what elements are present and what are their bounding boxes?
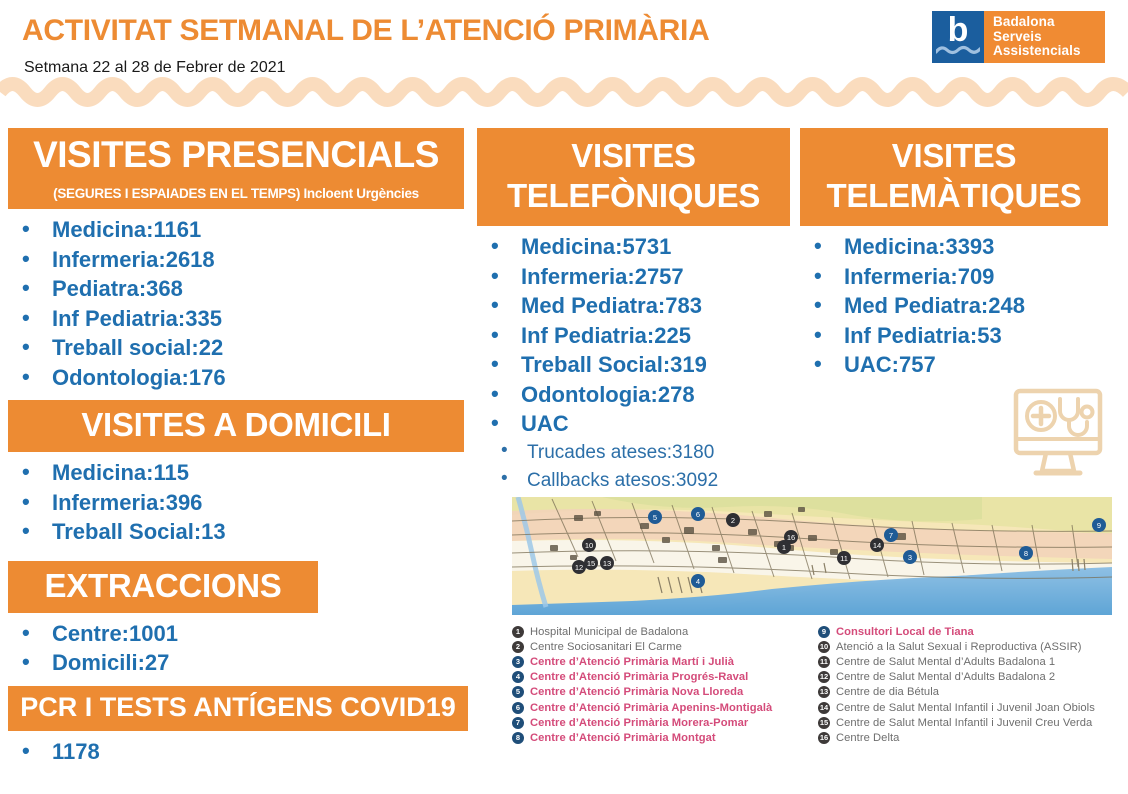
legend-label: Hospital Municipal de Badalona (530, 626, 688, 638)
extraccions-title: EXTRACCIONS (45, 567, 282, 604)
legend-label: Centre de dia Bétula (836, 686, 939, 698)
legend-row: 12Centre de Salut Mental d’Adults Badalo… (818, 670, 1128, 685)
list-item: Treball social:22 (8, 333, 464, 363)
legend-label: Centre d’Atenció Primària Progrés-Raval (530, 671, 748, 683)
legend-label: Consultori Local de Tiana (836, 626, 974, 638)
legend-right-column: 9Consultori Local de Tiana10Atenció a la… (818, 624, 1128, 746)
map-marker-number: 15 (587, 559, 595, 568)
list-item: Infermeria:709 (800, 262, 1108, 292)
map-marker-number: 13 (603, 559, 611, 568)
logo-line-2: Serveis (993, 30, 1105, 44)
list-item: Inf Pediatria:225 (477, 321, 790, 351)
presencials-title: VISITES PRESENCIALS (33, 134, 439, 175)
legend-label: Centre de Salut Mental d’Adults Badalona… (836, 656, 1055, 668)
list-item: Inf Pediatria:335 (8, 304, 464, 334)
list-item: Odontologia:278 (477, 380, 790, 410)
map-marker-number: 7 (889, 531, 893, 540)
legend-row: 8Centre d’Atenció Primària Montgat (512, 730, 842, 745)
list-item: Centre:1001 (8, 619, 464, 649)
legend-row: 16Centre Delta (818, 730, 1128, 745)
logo-letter: b (932, 13, 984, 47)
telefoniques-list: Medicina:5731 Infermeria:2757 Med Pediat… (477, 232, 790, 439)
list-item: Inf Pediatria:53 (800, 321, 1108, 351)
map-marker[interactable]: 2 (726, 513, 740, 527)
legend-number-badge: 1 (512, 626, 524, 638)
legend-number-badge: 5 (512, 686, 524, 698)
legend-left-column: 1Hospital Municipal de Badalona2Centre S… (512, 624, 842, 746)
legend-number-badge: 15 (818, 717, 830, 729)
telematiques-title-line2: TELEMÀTIQUES (827, 177, 1082, 214)
legend-row: 15Centre de Salut Mental Infantil i Juve… (818, 715, 1128, 730)
list-item: UAC:757 (800, 350, 1108, 380)
list-item: Infermeria:2757 (477, 262, 790, 292)
legend-label: Centre d’Atenció Primària Nova Lloreda (530, 686, 743, 698)
list-item: Trucades ateses:3180 (477, 439, 790, 467)
list-item: UAC (477, 409, 790, 439)
telematiques-title-line1: VISITES (892, 137, 1016, 174)
map-marker-number: 1 (782, 543, 786, 552)
map-marker-number: 4 (696, 577, 700, 586)
telematiques-list: Medicina:3393 Infermeria:709 Med Pediatr… (800, 232, 1108, 380)
legend-number-badge: 2 (512, 641, 524, 653)
section-header-pcr: PCR I TESTS ANTÍGENS COVID19 (8, 686, 468, 731)
legend-number-badge: 16 (818, 732, 830, 744)
list-item: Odontologia:176 (8, 363, 464, 393)
legend-label: Atenció a la Salut Sexual i Reproductiva… (836, 641, 1082, 653)
logo-mark: b (932, 11, 984, 63)
list-item: Medicina:3393 (800, 232, 1108, 262)
list-item: Callbacks atesos:3092 (477, 467, 790, 495)
map-marker-number: 8 (1024, 549, 1028, 558)
legend-row: 4Centre d’Atenció Primària Progrés-Raval (512, 670, 842, 685)
right-column: VISITES TELEMÀTIQUES Medicina:3393 Infer… (800, 128, 1108, 380)
legend-row: 3Centre d’Atenció Primària Martí i Julià (512, 654, 842, 669)
legend-label: Centre d’Atenció Primària Martí i Julià (530, 656, 734, 668)
legend-label: Centre de Salut Mental d’Adults Badalona… (836, 671, 1055, 683)
logo-wordmark: Badalona Serveis Assistencials (984, 11, 1105, 63)
map-marker[interactable]: 8 (1019, 546, 1033, 560)
map-marker[interactable]: 1 (777, 540, 791, 554)
legend-number-badge: 12 (818, 671, 830, 683)
legend-row: 13Centre de dia Bétula (818, 685, 1128, 700)
legend-label: Centre d’Atenció Primària Morera-Pomar (530, 717, 748, 729)
wave-divider (0, 72, 1128, 108)
presencials-list: Medicina:1161 Infermeria:2618 Pediatra:3… (8, 215, 464, 392)
pcr-title: PCR I TESTS ANTÍGENS COVID19 (20, 692, 456, 722)
map-marker-number: 10 (585, 541, 593, 550)
list-item: Medicina:1161 (8, 215, 464, 245)
map-marker-number: 3 (908, 553, 912, 562)
legend-number-badge: 7 (512, 717, 524, 729)
section-header-extraccions: EXTRACCIONS (8, 561, 318, 613)
list-item: Med Pediatra:248 (800, 291, 1108, 321)
list-item: Infermeria:396 (8, 488, 464, 518)
legend-row: 2Centre Sociosanitari El Carme (512, 639, 842, 654)
extraccions-list: Centre:1001 Domicili:27 (8, 619, 464, 678)
map-marker-number: 14 (873, 541, 881, 550)
section-header-telematiques: VISITES TELEMÀTIQUES (800, 128, 1108, 226)
map-marker[interactable]: 14 (870, 538, 884, 552)
page-title: ACTIVITAT SETMANAL DE L’ATENCIÓ PRIMÀRIA (22, 14, 709, 48)
list-item: Pediatra:368 (8, 274, 464, 304)
brand-logo: b Badalona Serveis Assistencials (932, 11, 1105, 63)
section-header-domicili: VISITES A DOMICILI (8, 400, 464, 452)
coverage-map[interactable]: 56216110121513411147389 (512, 497, 1112, 615)
map-marker[interactable]: 10 (582, 538, 596, 552)
list-item: Medicina:5731 (477, 232, 790, 262)
legend-row: 6Centre d’Atenció Primària Apenins-Monti… (512, 700, 842, 715)
legend-number-badge: 4 (512, 671, 524, 683)
legend-row: 11Centre de Salut Mental d’Adults Badalo… (818, 654, 1128, 669)
logo-line-3: Assistencials (993, 44, 1105, 58)
map-marker[interactable]: 3 (903, 550, 917, 564)
logo-wave-icon (936, 44, 980, 56)
legend-number-badge: 14 (818, 702, 830, 714)
presencials-note: (SEGURES I ESPAIADES EN EL TEMPS) Incloe… (14, 186, 458, 202)
map-marker[interactable]: 13 (600, 556, 614, 570)
legend-number-badge: 8 (512, 732, 524, 744)
map-marker[interactable]: 5 (648, 510, 662, 524)
list-item: Infermeria:2618 (8, 245, 464, 275)
legend-label: Centre d’Atenció Primària Apenins-Montig… (530, 702, 772, 714)
domicili-list: Medicina:115 Infermeria:396 Treball Soci… (8, 458, 464, 547)
legend-number-badge: 11 (818, 656, 830, 668)
legend-number-badge: 10 (818, 641, 830, 653)
map-marker[interactable]: 9 (1092, 518, 1106, 532)
map-marker[interactable]: 12 (572, 560, 586, 574)
section-header-telefoniques: VISITES TELEFÒNIQUES (477, 128, 790, 226)
list-item: Treball Social:13 (8, 517, 464, 547)
map-marker-number: 2 (731, 516, 735, 525)
telefoniques-title-line2: TELEFÒNIQUES (507, 177, 760, 214)
left-column: VISITES PRESENCIALS (SEGURES I ESPAIADES… (8, 128, 464, 766)
section-header-presencials: VISITES PRESENCIALS (SEGURES I ESPAIADES… (8, 128, 464, 209)
map-marker[interactable]: 11 (837, 551, 851, 565)
legend-row: 14Centre de Salut Mental Infantil i Juve… (818, 700, 1128, 715)
map-marker-number: 11 (840, 554, 848, 563)
legend-row: 7Centre d’Atenció Primària Morera-Pomar (512, 715, 842, 730)
middle-column: VISITES TELEFÒNIQUES Medicina:5731 Infer… (477, 128, 790, 495)
legend-label: Centre d’Atenció Primària Montgat (530, 732, 716, 744)
map-marker-number: 6 (696, 510, 700, 519)
uac-sublist: Trucades ateses:3180 Callbacks atesos:30… (477, 439, 790, 495)
pcr-list: 1178 (8, 737, 464, 767)
domicili-title: VISITES A DOMICILI (81, 406, 390, 443)
map-marker[interactable]: 7 (884, 528, 898, 542)
list-item: 1178 (8, 737, 464, 767)
list-item: Treball Social:319 (477, 350, 790, 380)
logo-line-1: Badalona (993, 15, 1105, 29)
legend-label: Centre de Salut Mental Infantil i Juveni… (836, 717, 1092, 729)
legend-label: Centre Sociosanitari El Carme (530, 641, 682, 653)
map-marker-number: 9 (1097, 521, 1101, 530)
legend-row: 5Centre d’Atenció Primària Nova Lloreda (512, 685, 842, 700)
telefoniques-title-line1: VISITES (571, 137, 695, 174)
list-item: Domicili:27 (8, 648, 464, 678)
map-illustration: 56216110121513411147389 (512, 497, 1112, 615)
map-marker[interactable]: 15 (584, 556, 598, 570)
map-marker[interactable]: 6 (691, 507, 705, 521)
map-marker-number: 12 (575, 563, 583, 572)
map-marker-number: 5 (653, 513, 657, 522)
legend-label: Centre de Salut Mental Infantil i Juveni… (836, 702, 1095, 714)
legend-number-badge: 3 (512, 656, 524, 668)
map-marker[interactable]: 4 (691, 574, 705, 588)
legend-row: 9Consultori Local de Tiana (818, 624, 1128, 639)
legend-row: 1Hospital Municipal de Badalona (512, 624, 842, 639)
legend-number-badge: 9 (818, 626, 830, 638)
list-item: Med Pediatra:783 (477, 291, 790, 321)
legend-row: 10Atenció a la Salut Sexual i Reproducti… (818, 639, 1128, 654)
map-marker-number: 16 (787, 533, 795, 542)
telemedicine-monitor-stethoscope-icon (1006, 383, 1110, 483)
legend-number-badge: 6 (512, 702, 524, 714)
legend-number-badge: 13 (818, 686, 830, 698)
infographic-page: ACTIVITAT SETMANAL DE L’ATENCIÓ PRIMÀRIA… (0, 0, 1128, 794)
list-item: Medicina:115 (8, 458, 464, 488)
legend-label: Centre Delta (836, 732, 899, 744)
